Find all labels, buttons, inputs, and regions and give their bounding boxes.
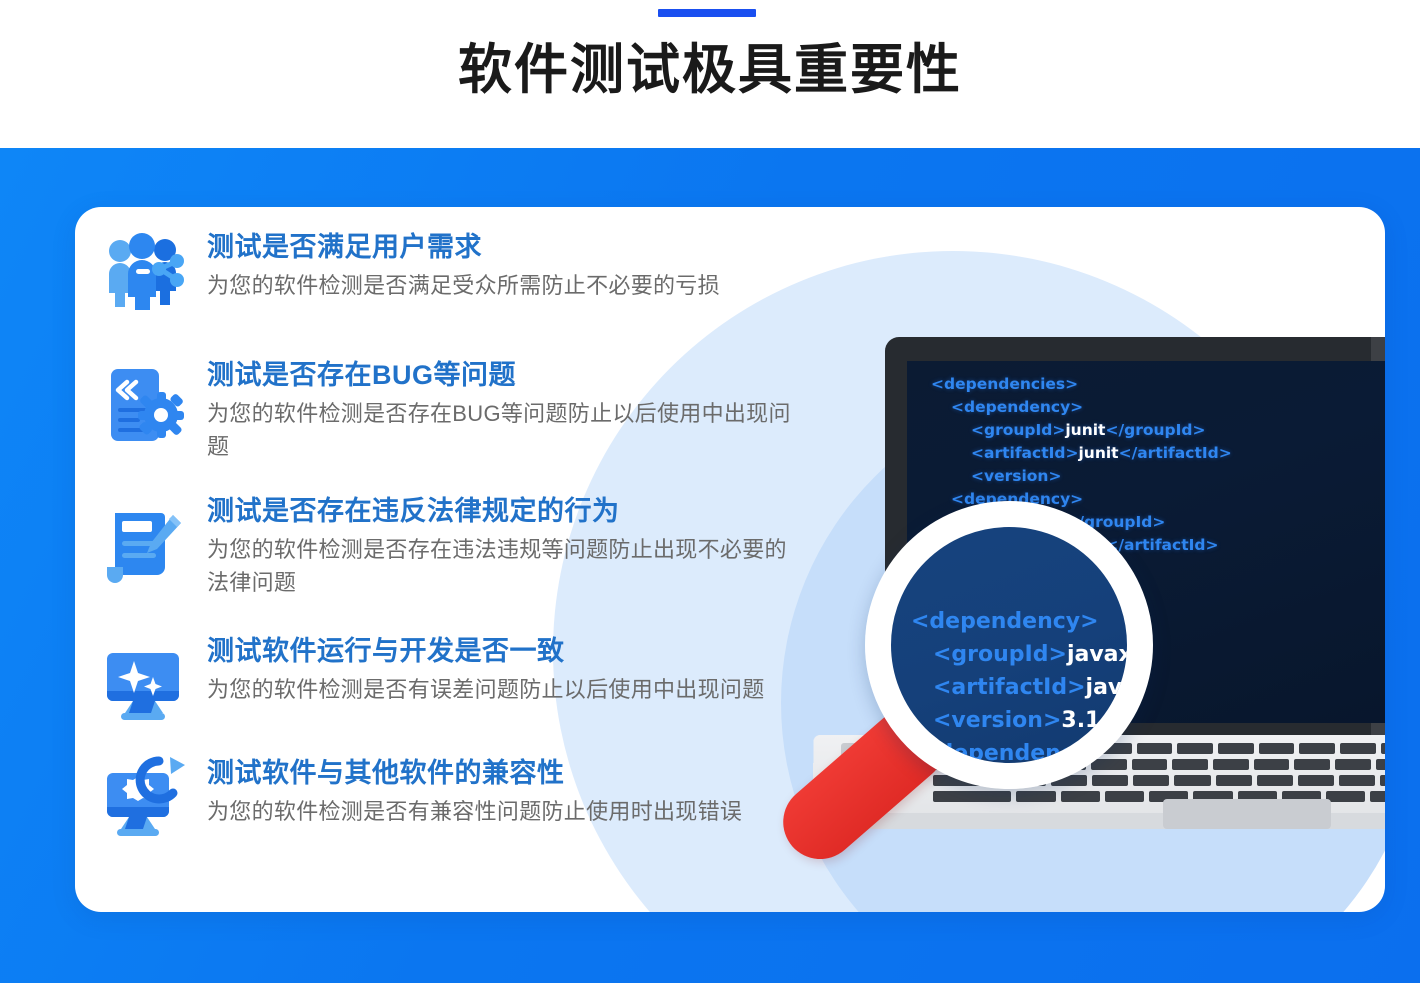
feature-heading: 测试是否存在BUG等问题 <box>207 357 809 393</box>
page-header: 软件测试极具重要性 <box>0 0 1420 148</box>
code-value: 3.1.0 <box>1061 708 1124 733</box>
feature-description: 为您的软件检测是否有误差问题防止以后使用中出现问题 <box>207 673 807 706</box>
feature-item: 测试是否满足用户需求 为您的软件检测是否满足受众所需防止不必要的亏损 <box>89 229 809 315</box>
code-line: </groupId> <box>1105 421 1205 439</box>
code-value: junit <box>1078 444 1118 462</box>
code-value: javax.s <box>1067 642 1153 667</box>
code-line: <dependencies> <box>931 375 1078 393</box>
page-title: 软件测试极具重要性 <box>0 38 1420 102</box>
content-card: 测试是否满足用户需求 为您的软件检测是否满足受众所需防止不必要的亏损 <box>75 207 1385 912</box>
feature-item: 测试软件运行与开发是否一致 为您的软件检测是否有误差问题防止以后使用中出现问题 <box>89 633 809 719</box>
feature-description: 为您的软件检测是否存在BUG等问题防止以后使用中出现问题 <box>207 397 807 463</box>
code-value: javax.s <box>1086 675 1153 700</box>
code-line: <groupId> <box>971 421 1065 439</box>
laptop-trackpad <box>1163 799 1331 829</box>
feature-item: 测试是否存在违反法律规定的行为 为您的软件检测是否存在违法违规等问题防止出现不必… <box>89 493 809 599</box>
magnified-code: <dependency> <groupId>javax.s <artifactI… <box>911 605 1153 770</box>
code-line: </dependency> <box>911 741 1107 766</box>
code-line: </artifactId> <box>1105 536 1218 554</box>
monitor-refresh-gear-icon <box>103 753 187 837</box>
feature-description: 为您的软件检测是否存在违法违规等问题防止出现不必要的法律问题 <box>207 533 807 599</box>
people-share-icon <box>103 231 187 315</box>
code-line: <dependency> <box>911 609 1099 634</box>
code-line: <artifactId> <box>933 675 1086 700</box>
code-line: <artifactId> <box>971 444 1078 462</box>
feature-item: 测试是否存在BUG等问题 为您的软件检测是否存在BUG等问题防止以后使用中出现问… <box>89 357 809 463</box>
code-line: <groupId> <box>933 642 1067 667</box>
feature-heading: 测试软件运行与开发是否一致 <box>207 633 809 669</box>
feature-item: 测试软件与其他软件的兼容性 为您的软件检测是否有兼容性问题防止使用时出现错误 <box>89 755 809 841</box>
title-accent-bar <box>658 9 756 17</box>
blue-stage: 测试是否满足用户需求 为您的软件检测是否满足受众所需防止不必要的亏损 <box>0 148 1420 983</box>
laptop-illustration: <dependencies> <dependency> <groupId>jun… <box>765 317 1385 912</box>
code-value: junit <box>1065 421 1105 439</box>
magnifier-lens: <dependency> <groupId>javax.s <artifactI… <box>865 501 1153 789</box>
feature-list: 测试是否满足用户需求 为您的软件检测是否满足受众所需防止不必要的亏损 <box>89 229 809 887</box>
code-line: <version> <box>933 708 1061 733</box>
feature-heading: 测试是否存在违反法律规定的行为 <box>207 493 809 529</box>
feature-description: 为您的软件检测是否有兼容性问题防止使用时出现错误 <box>207 795 807 828</box>
document-pen-icon <box>103 501 187 585</box>
monitor-sparkle-icon <box>103 641 187 725</box>
feature-description: 为您的软件检测是否满足受众所需防止不必要的亏损 <box>207 269 807 302</box>
code-line: </artifactId> <box>1119 444 1232 462</box>
code-line: <version> <box>931 467 1061 485</box>
code-line: <dependency> <box>931 398 1083 416</box>
code-document-gear-icon <box>103 363 187 447</box>
feature-heading: 测试软件与其他软件的兼容性 <box>207 755 809 791</box>
feature-heading: 测试是否满足用户需求 <box>207 229 809 265</box>
